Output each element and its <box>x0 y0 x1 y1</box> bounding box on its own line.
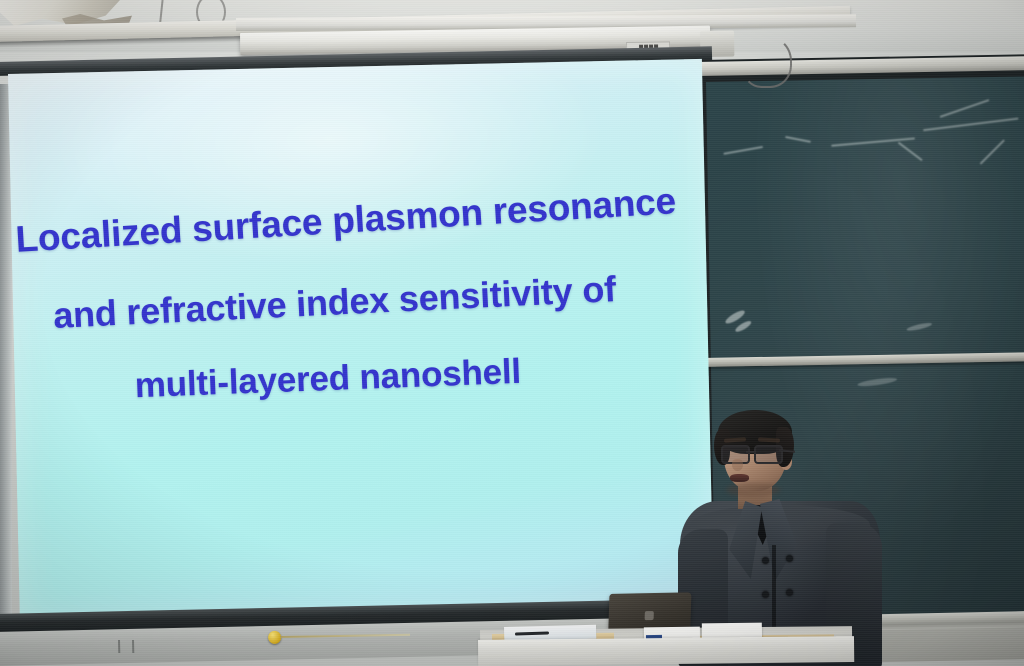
presenter-coat-button <box>762 557 769 564</box>
chalk-smudge <box>723 146 763 155</box>
glasses-bridge <box>746 451 755 453</box>
slide-title-line-1: Localized surface plasmon resonance <box>14 180 677 261</box>
chalk-smudge <box>857 376 897 388</box>
slide-title-line-2: and refractive index sensitivity of <box>52 268 617 337</box>
glasses-icon <box>720 445 790 461</box>
podium-front-panel <box>478 636 854 666</box>
presenter-chin-shadow <box>726 483 780 497</box>
presenter-coat-button <box>786 555 793 562</box>
chalk-smudge <box>734 319 753 333</box>
power-cable-loop <box>742 36 792 88</box>
presenter-coat-button <box>786 589 793 596</box>
laptop-logo <box>645 611 654 620</box>
wall-panel-notch <box>118 640 120 653</box>
chalk-smudge <box>785 136 811 143</box>
chalk-smudge <box>923 118 1019 132</box>
glasses-lens-right <box>754 445 783 464</box>
presenter-nose <box>732 459 743 471</box>
chalk-smudge <box>906 321 932 332</box>
presenter-coat-button <box>762 591 769 598</box>
chalk-smudge <box>940 99 990 118</box>
slide-title-line-3: multi-layered nanoshell <box>134 352 522 406</box>
slide-title-block: Localized surface plasmon resonance and … <box>8 59 714 630</box>
wall-panel-notch <box>132 640 134 653</box>
projection-screen[interactable]: Localized surface plasmon resonance and … <box>8 59 714 630</box>
chalk-smudge <box>898 142 923 162</box>
presenter-mouth <box>730 474 749 482</box>
lecture-room-photo: Localized surface plasmon resonance and … <box>0 0 1024 666</box>
chalk-smudge <box>980 139 1005 164</box>
